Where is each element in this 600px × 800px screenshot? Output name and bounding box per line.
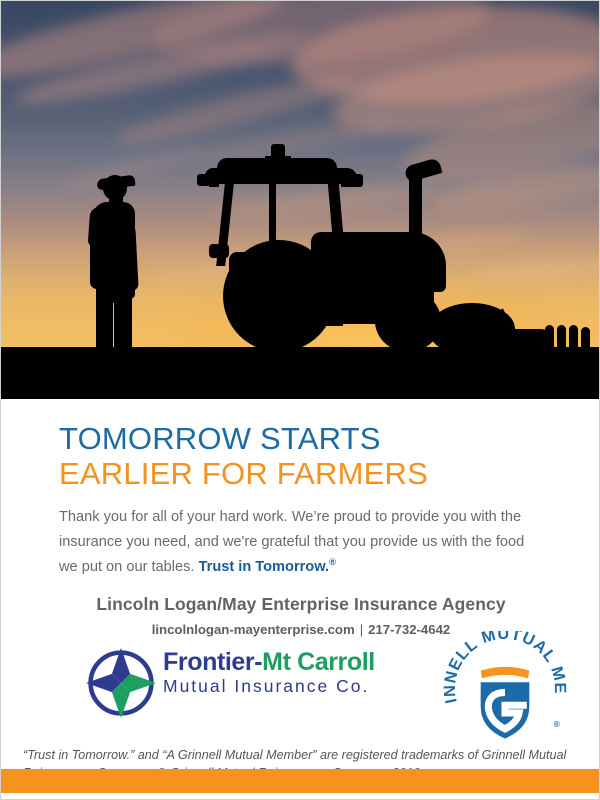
tractor-mirror-arm	[209, 182, 219, 187]
tractor-exhaust-cap	[403, 157, 442, 182]
frontier-mt-carroll-wordmark: Frontier-Mt Carroll Mutual Insurance Co.	[163, 649, 375, 698]
compass-rose-icon	[83, 645, 159, 721]
ground-silhouette	[1, 347, 600, 399]
company-name-line-2: Mutual Insurance Co.	[163, 675, 375, 698]
company-name-part-1: Frontier-	[163, 648, 262, 676]
tractor-hood	[311, 232, 446, 292]
contact-separator: |	[355, 622, 368, 637]
frontier-mt-carroll-logo: Frontier-Mt Carroll Mutual Insurance Co.	[83, 643, 383, 721]
seal-orange-arc	[481, 667, 530, 679]
seal-registered-mark: ®	[554, 719, 560, 729]
registered-trademark-icon: ®	[329, 557, 336, 567]
hero-photo	[1, 1, 600, 399]
agency-website-link[interactable]: lincolnlogan-mayenterprise.com	[152, 622, 355, 637]
company-name-line-1: Frontier-Mt Carroll	[163, 649, 375, 675]
agency-name: Lincoln Logan/May Enterprise Insurance A…	[1, 580, 600, 615]
flyer-page: TOMORROW STARTS EARLIER FOR FARMERS Than…	[0, 0, 600, 800]
footer-accent-bar	[1, 769, 600, 793]
body-paragraph: Thank you for all of your hard work. We’…	[1, 491, 600, 580]
trust-tagline-text: Trust in Tomorrow.	[199, 559, 330, 575]
grinnell-mutual-member-seal: A GRINNELL MUTUAL MEMBER ®	[441, 631, 569, 759]
headline-line-1: TOMORROW STARTS	[59, 421, 600, 456]
agency-phone-link[interactable]: 217-732-4642	[368, 622, 450, 637]
trust-in-tomorrow-tagline: Trust in Tomorrow.®	[199, 559, 336, 575]
tractor-exhaust-pipe	[409, 172, 422, 262]
tractor-step	[307, 312, 343, 326]
content-area: TOMORROW STARTS EARLIER FOR FARMERS Than…	[1, 399, 600, 637]
logo-row: Frontier-Mt Carroll Mutual Insurance Co.…	[1, 637, 600, 733]
headline-line-2: EARLIER FOR FARMERS	[59, 456, 600, 491]
tractor-silhouette	[161, 144, 491, 359]
tractor-mirror-arm	[341, 182, 352, 187]
tractor-beacon-base	[265, 156, 291, 162]
farmer-cap	[96, 175, 135, 191]
farmer-silhouette	[83, 175, 151, 355]
page-title: TOMORROW STARTS EARLIER FOR FARMERS	[1, 399, 600, 491]
tractor-cab-pillar	[269, 174, 276, 266]
company-name-part-2: Mt Carroll	[262, 648, 375, 676]
